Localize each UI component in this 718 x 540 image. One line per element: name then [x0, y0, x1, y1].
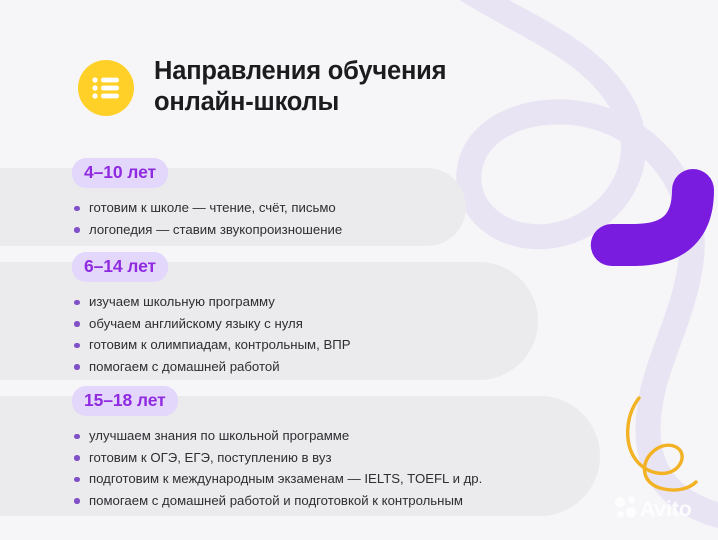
purple-hook-decor — [612, 190, 693, 245]
age-badge-15-18: 15–18 лет — [72, 386, 178, 416]
list-item: логопедия — ставим звукопроизношение — [72, 219, 342, 241]
age-badge-4-10: 4–10 лет — [72, 158, 168, 188]
avito-watermark: Avito — [612, 493, 704, 528]
list-item: улучшаем знания по школьной программе — [72, 425, 482, 447]
list-item: помогаем с домашней работой — [72, 356, 351, 378]
list-item: обучаем английскому языку с нуля — [72, 313, 351, 335]
list-item: готовим к олимпиадам, контрольным, ВПР — [72, 334, 351, 356]
avito-logo-icon — [615, 497, 636, 518]
list-item: подготовим к международным экзаменам — I… — [72, 468, 482, 490]
section-age-15-18: 15–18 лет улучшаем знания по школьной пр… — [72, 386, 482, 511]
svg-text:Avito: Avito — [640, 498, 692, 521]
section-age-4-10: 4–10 лет готовим к школе — чтение, счёт,… — [72, 158, 342, 240]
list-item: готовим к школе — чтение, счёт, письмо — [72, 197, 342, 219]
page-title: Направления обучения онлайн-школы — [154, 56, 446, 119]
list-item: готовим к ОГЭ, ЕГЭ, поступлению в вуз — [72, 447, 482, 469]
poster-header: Направления обучения онлайн-школы — [78, 56, 446, 119]
list-bullets-icon — [78, 60, 134, 116]
orange-flourish-decor — [628, 398, 696, 490]
bullet-list-age-6-14: изучаем школьную программу обучаем англи… — [72, 291, 351, 377]
bullet-list-age-4-10: готовим к школе — чтение, счёт, письмо л… — [72, 197, 342, 240]
list-item: помогаем с домашней работой и подготовко… — [72, 490, 482, 512]
poster-canvas: Направления обучения онлайн-школы 4–10 л… — [0, 0, 718, 540]
section-age-6-14: 6–14 лет изучаем школьную программу обуч… — [72, 252, 351, 377]
bullet-list-age-15-18: улучшаем знания по школьной программе го… — [72, 425, 482, 511]
list-item: изучаем школьную программу — [72, 291, 351, 313]
age-badge-6-14: 6–14 лет — [72, 252, 168, 282]
